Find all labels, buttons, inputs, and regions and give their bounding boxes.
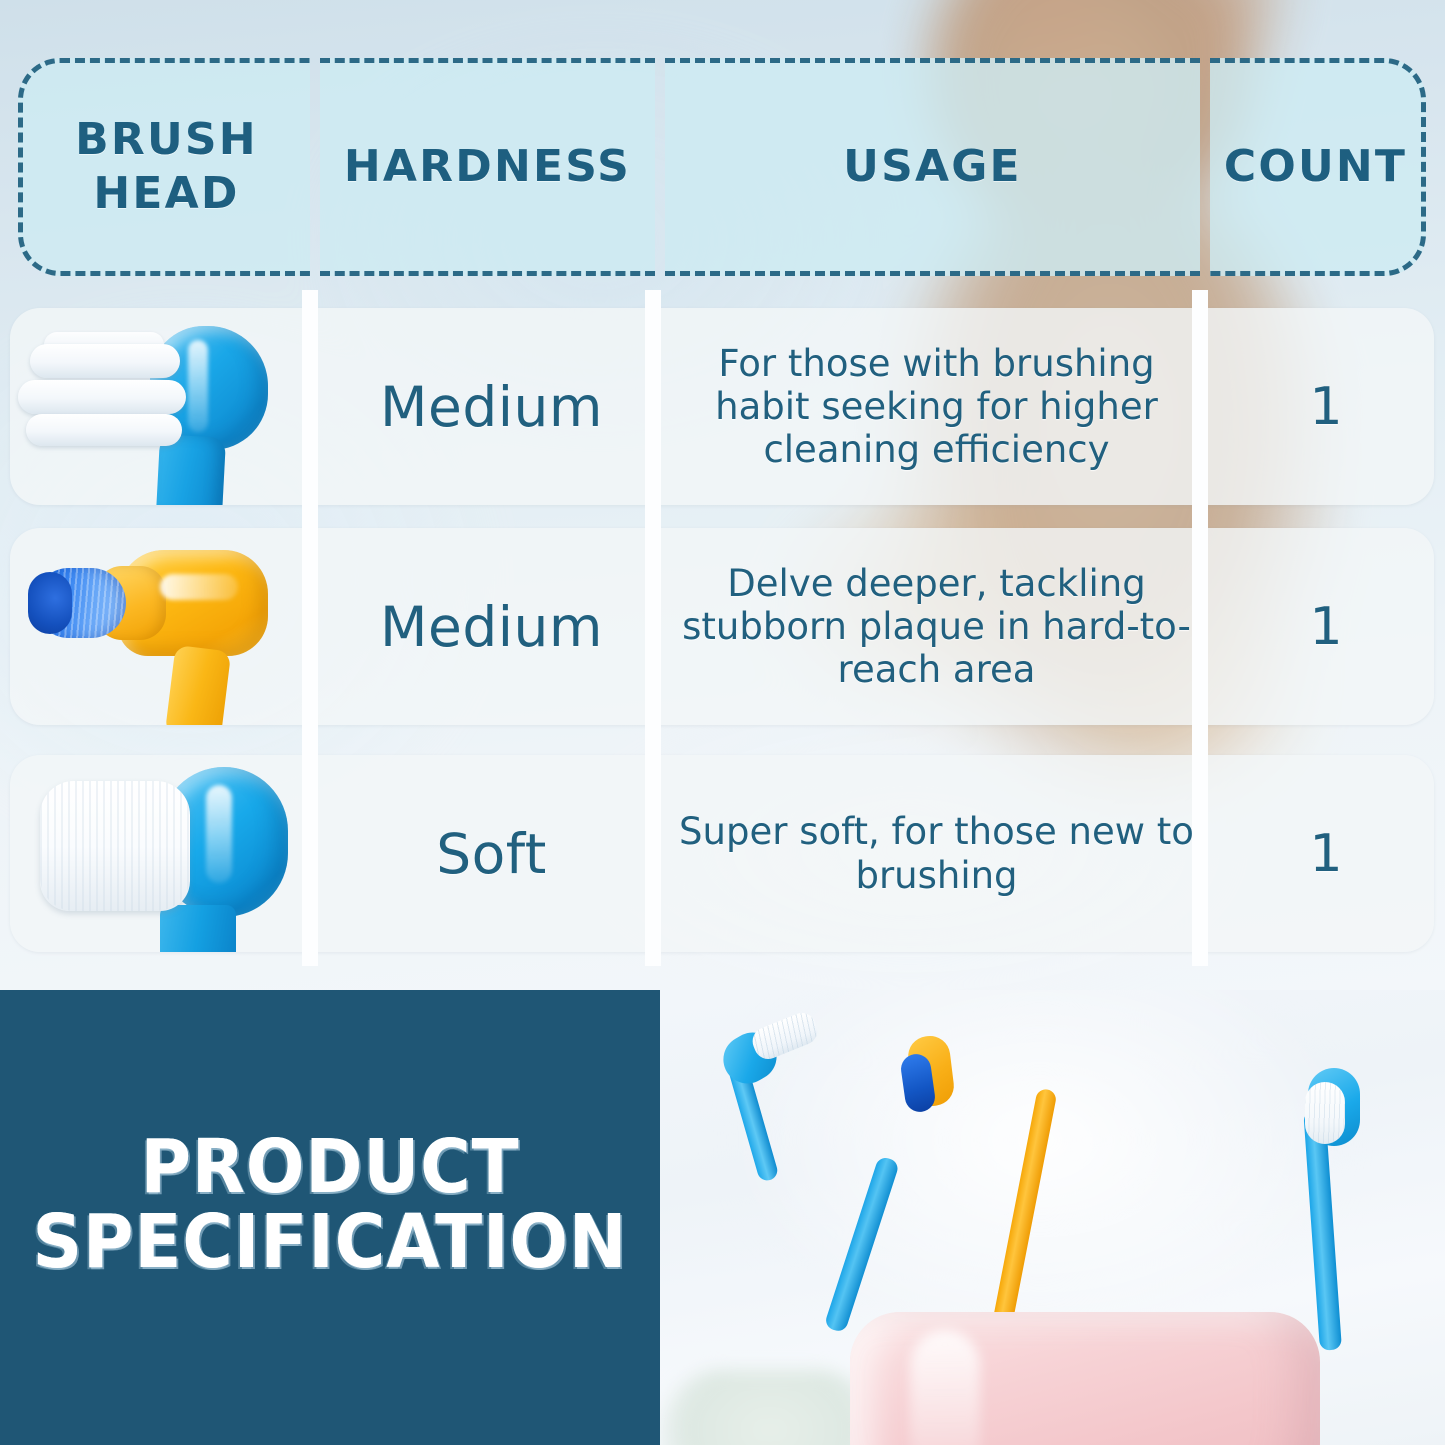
brush-head-image-cell: [10, 755, 310, 952]
count-cell: 1: [1218, 528, 1434, 725]
product-specification-infographic: BRUSHHEAD HARDNESS USAGE COUNT: [0, 0, 1445, 1445]
bristle-tuft-shape: [30, 344, 180, 378]
usage-value: For those with brushing habit seeking fo…: [671, 342, 1202, 472]
table-header-row: BRUSHHEAD HARDNESS USAGE COUNT: [18, 58, 1426, 276]
footer-banner: PRODUCT SPECIFICATION: [0, 990, 1445, 1445]
header-cell-usage: USAGE: [665, 58, 1200, 276]
header-label-brush-head: BRUSHHEAD: [75, 113, 258, 220]
header-cell-brush-head: BRUSHHEAD: [18, 58, 310, 276]
header-cell-hardness: HARDNESS: [320, 58, 655, 276]
pink-cup-highlight: [910, 1330, 980, 1445]
background-object-blur: [660, 1370, 880, 1445]
bristle-tuft-shape: [26, 414, 182, 446]
brush-highlight-shape: [160, 574, 238, 600]
table-row: Medium Delve deeper, tackling stubborn p…: [10, 528, 1434, 725]
table-row: Medium For those with brushing habit see…: [10, 308, 1434, 505]
header-label-hardness: HARDNESS: [344, 140, 631, 194]
title-line-2: SPECIFICATION: [23, 1205, 637, 1280]
count-cell: 1: [1218, 755, 1434, 952]
footer-title-panel: PRODUCT SPECIFICATION: [0, 990, 660, 1445]
header-label-count: COUNT: [1224, 140, 1407, 194]
header-cell-count: COUNT: [1210, 58, 1426, 276]
count-cell: 1: [1218, 308, 1434, 505]
header-label-usage: USAGE: [843, 140, 1022, 194]
column-divider: [302, 290, 318, 966]
count-value: 1: [1309, 377, 1342, 437]
spec-table-section: BRUSHHEAD HARDNESS USAGE COUNT: [0, 0, 1445, 990]
brush-head-image-cell: [10, 528, 310, 725]
hardness-value: Soft: [436, 822, 547, 886]
hardness-cell: Medium: [328, 528, 655, 725]
count-value: 1: [1309, 824, 1342, 884]
usage-cell: Delve deeper, tackling stubborn plaque i…: [671, 528, 1202, 725]
bristle-tip-shape: [28, 572, 72, 634]
brush-highlight-shape: [188, 340, 208, 432]
column-divider: [645, 290, 661, 966]
usage-cell: Super soft, for those new to brushing: [671, 755, 1202, 952]
usage-value: Super soft, for those new to brushing: [671, 810, 1202, 897]
brush-highlight-shape: [206, 785, 232, 883]
hardness-value: Medium: [380, 375, 603, 439]
page-title: PRODUCT SPECIFICATION: [0, 1130, 660, 1281]
bristle-dome-shape: [40, 781, 190, 911]
bristle-tuft-shape: [18, 380, 186, 414]
hardness-value: Medium: [380, 595, 603, 659]
footer-product-photo: [660, 990, 1445, 1445]
title-line-1: PRODUCT: [23, 1130, 637, 1205]
count-value: 1: [1309, 597, 1342, 657]
brush-head-image-cell: [10, 308, 310, 505]
usage-value: Delve deeper, tackling stubborn plaque i…: [671, 562, 1202, 692]
toothbrush-blue-straight-bristles: [1305, 1082, 1345, 1144]
brush-neck-shape: [165, 645, 232, 725]
hardness-cell: Soft: [328, 755, 655, 952]
soft-brush-head-icon: [10, 755, 310, 952]
blue-brush-head-icon: [10, 308, 310, 505]
table-row: Soft Super soft, for those new to brushi…: [10, 755, 1434, 952]
hardness-cell: Medium: [328, 308, 655, 505]
brush-neck-shape: [160, 905, 236, 952]
usage-cell: For those with brushing habit seeking fo…: [671, 308, 1202, 505]
column-divider: [1192, 290, 1208, 966]
orange-brush-head-icon: [10, 528, 310, 725]
